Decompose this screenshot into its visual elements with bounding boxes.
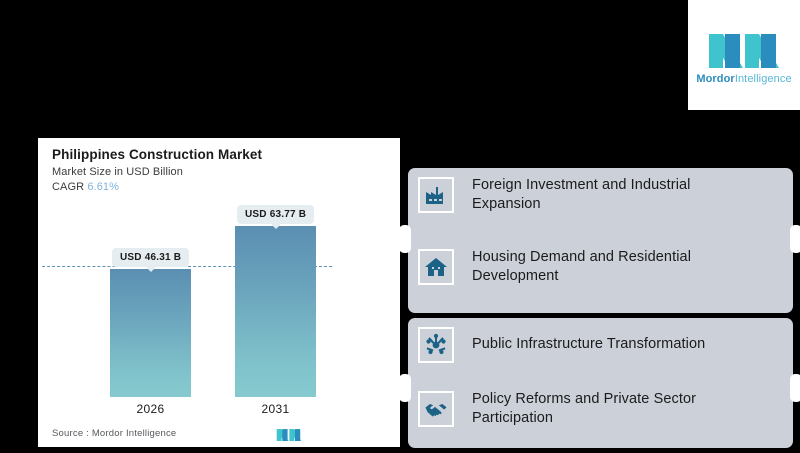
x-axis-label-2031: 2031 [235, 402, 316, 416]
bar-chart-plot: USD 46.31 B USD 63.77 B 2026 2031 [38, 138, 400, 447]
x-axis-label-2026: 2026 [110, 402, 191, 416]
driver-item-housing-demand[interactable]: Housing Demand and Residential Developme… [418, 248, 783, 286]
panel-notch-left-upper [399, 225, 411, 253]
source-mordor-logo-icon [276, 426, 302, 442]
source-text: Source : Mordor Intelligence [52, 428, 176, 439]
house-icon [418, 249, 454, 285]
brand-logo-card: MordorIntelligence [688, 0, 800, 110]
panel-notch-left-lower [399, 374, 411, 402]
bar-value-label-2026: USD 46.31 B [112, 248, 189, 267]
network-hub-icon [418, 327, 454, 363]
mordor-intelligence-logo-icon [707, 26, 781, 70]
brand-name-bold: Mordor [696, 73, 734, 85]
bar-2031 [235, 226, 316, 397]
brand-logo-text: MordorIntelligence [696, 73, 791, 85]
driver-label: Foreign Investment and Industrial Expans… [472, 176, 762, 214]
handshake-icon [418, 391, 454, 427]
driver-item-foreign-investment[interactable]: Foreign Investment and Industrial Expans… [418, 176, 783, 214]
bar-2026 [110, 269, 191, 397]
panel-notch-right-lower [790, 374, 800, 402]
chart-card: Philippines Construction Market Market S… [38, 138, 400, 447]
factory-icon [418, 177, 454, 213]
panel-notch-right-upper [790, 225, 800, 253]
driver-label: Policy Reforms and Private Sector Partic… [472, 390, 762, 428]
driver-label: Public Infrastructure Transformation [472, 335, 705, 354]
brand-name-light: Intelligence [735, 73, 792, 85]
driver-label: Housing Demand and Residential Developme… [472, 248, 762, 286]
driver-item-policy-reforms[interactable]: Policy Reforms and Private Sector Partic… [418, 390, 783, 428]
driver-item-public-infrastructure[interactable]: Public Infrastructure Transformation [418, 327, 783, 363]
bar-value-label-2031: USD 63.77 B [237, 205, 314, 224]
